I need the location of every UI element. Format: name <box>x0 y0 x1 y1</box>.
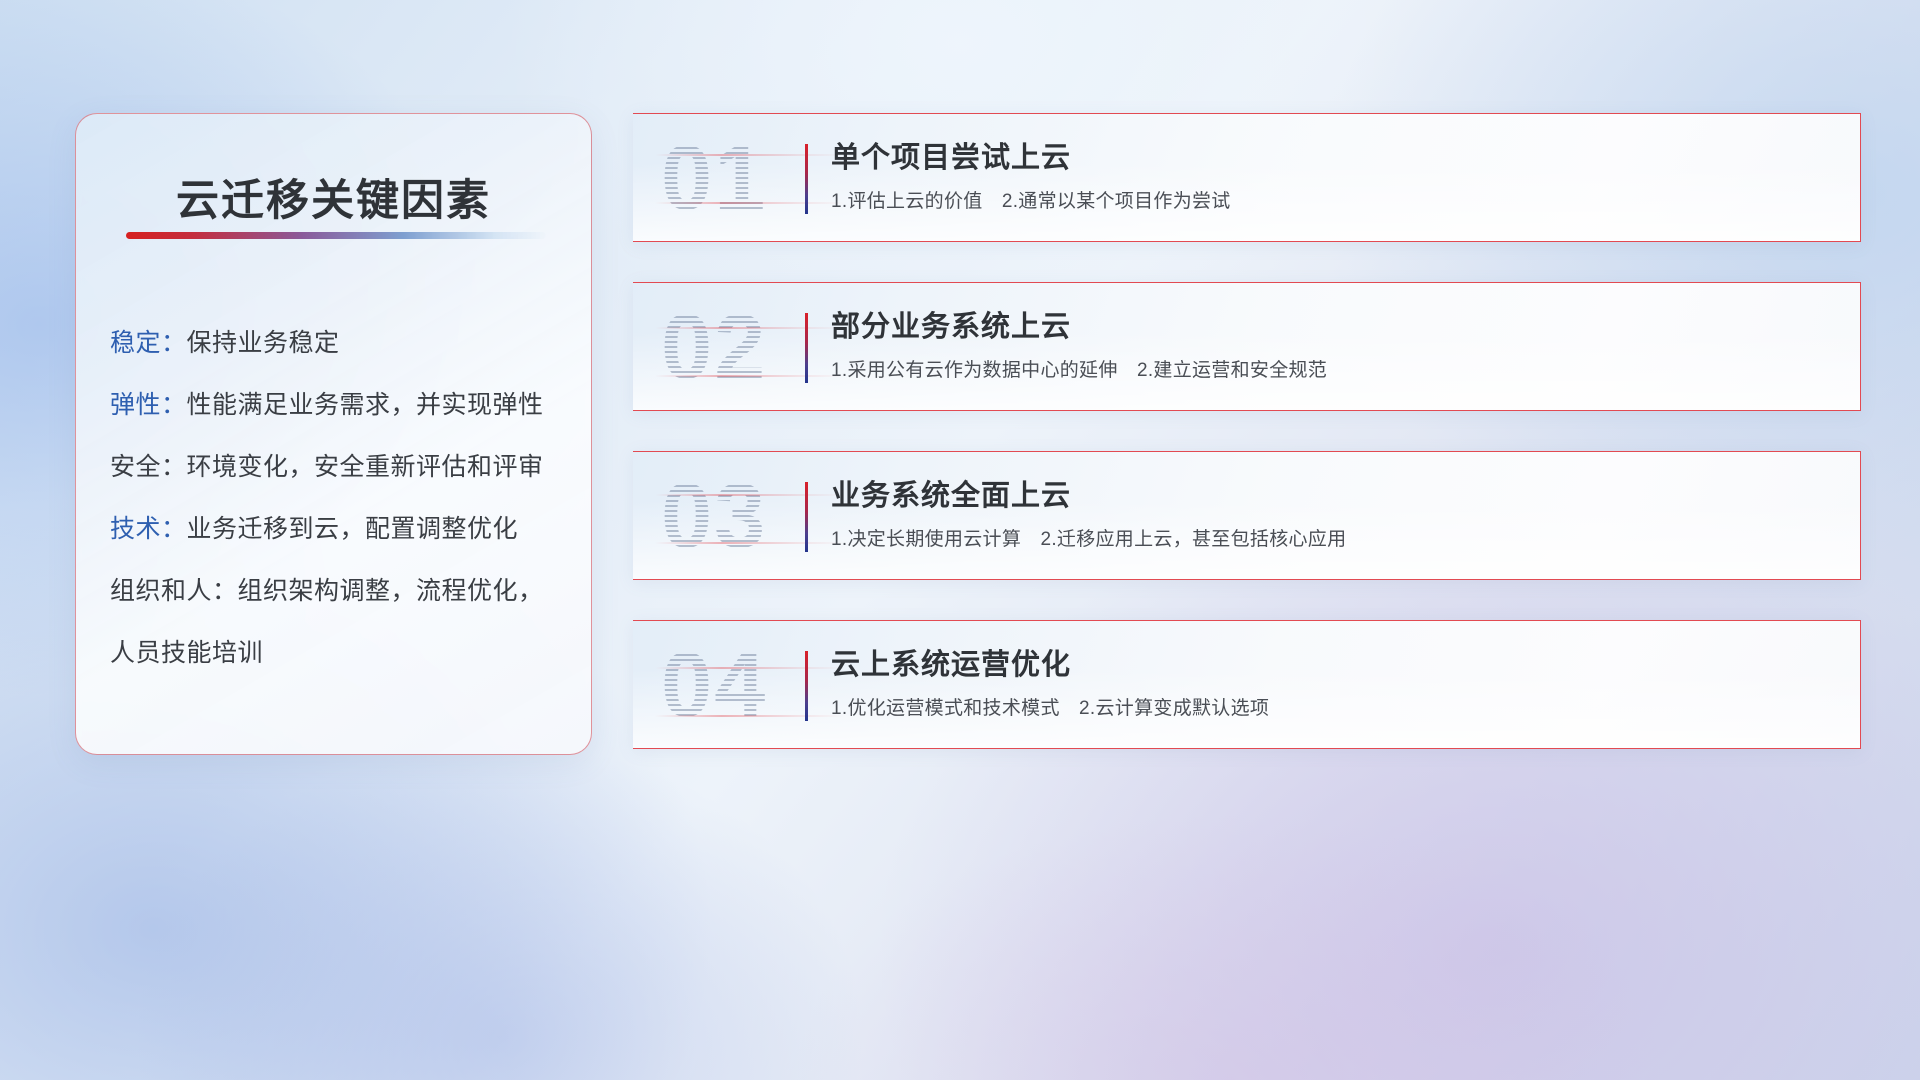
scanline-streak-icon <box>655 202 845 204</box>
stage-number-02-icon: 02 <box>661 301 767 393</box>
card-accent-bar <box>805 313 808 383</box>
factor-label: 弹性： <box>110 391 187 419</box>
factor-item-stability: 稳定：保持业务稳定 <box>110 312 571 374</box>
stage-card[interactable]: 03 业务系统全面上云 1.决定长期使用云计算 2.迁移应用上云，甚至包括核心应… <box>633 451 1861 580</box>
scanline-streak-icon <box>655 494 845 496</box>
factor-item-elasticity: 弹性：性能满足业务需求，并实现弹性 <box>110 374 571 436</box>
stage-number-01-icon: 01 <box>661 132 767 224</box>
factor-label: 技术： <box>110 515 187 543</box>
factor-label: 组织和人： <box>110 577 238 605</box>
factor-list: 稳定：保持业务稳定 弹性：性能满足业务需求，并实现弹性 安全：环境变化，安全重新… <box>110 312 571 684</box>
scanline-streak-icon <box>655 715 845 717</box>
page-title: 云迁移关键因素 <box>76 166 591 228</box>
stage-card-body: 部分业务系统上云 1.采用公有云作为数据中心的延伸 2.建立运营和安全规范 <box>831 307 1838 385</box>
factor-item-security: 安全：环境变化，安全重新评估和评审 <box>110 436 571 498</box>
stage-card-description: 1.评估上云的价值 2.通常以某个项目作为尝试 <box>831 188 1838 216</box>
factor-item-technology: 技术：业务迁移到云，配置调整优化 <box>110 498 571 560</box>
slide-canvas: 云迁移关键因素 稳定：保持业务稳定 弹性：性能满足业务需求，并实现弹性 安全：环… <box>0 0 1920 1080</box>
stage-card-description: 1.采用公有云作为数据中心的延伸 2.建立运营和安全规范 <box>831 357 1838 385</box>
scanline-streak-icon <box>655 542 845 544</box>
stage-card-body: 单个项目尝试上云 1.评估上云的价值 2.通常以某个项目作为尝试 <box>831 138 1838 216</box>
title-underline-rule <box>126 232 546 239</box>
stage-card-body: 业务系统全面上云 1.决定长期使用云计算 2.迁移应用上云，甚至包括核心应用 <box>831 476 1838 554</box>
stage-card-title: 云上系统运营优化 <box>831 645 1838 685</box>
factor-label: 稳定： <box>110 329 187 357</box>
factor-text: 环境变化，安全重新评估和评审 <box>187 453 544 481</box>
factor-text: 组织架构调整，流程优化， <box>238 577 544 605</box>
stage-card-title: 业务系统全面上云 <box>831 476 1838 516</box>
factor-text: 业务迁移到云，配置调整优化 <box>187 515 519 543</box>
factor-item-organization-cont: 人员技能培训 <box>110 622 571 684</box>
factor-label: 安全： <box>110 453 187 481</box>
card-accent-bar <box>805 144 808 214</box>
card-accent-bar <box>805 482 808 552</box>
factor-text: 人员技能培训 <box>110 639 263 667</box>
stage-card-title: 单个项目尝试上云 <box>831 138 1838 178</box>
stage-card[interactable]: 04 云上系统运营优化 1.优化运营模式和技术模式 2.云计算变成默认选项 <box>633 620 1861 749</box>
stage-card-description: 1.优化运营模式和技术模式 2.云计算变成默认选项 <box>831 695 1838 723</box>
stage-number-03-icon: 03 <box>661 470 767 562</box>
stage-card-title: 部分业务系统上云 <box>831 307 1838 347</box>
stage-number-04-icon: 04 <box>661 639 767 731</box>
stage-card-list: 01 单个项目尝试上云 1.评估上云的价值 2.通常以某个项目作为尝试 02 部… <box>633 113 1861 789</box>
factor-item-organization: 组织和人：组织架构调整，流程优化， <box>110 560 571 622</box>
scanline-streak-icon <box>655 327 845 329</box>
card-accent-bar <box>805 651 808 721</box>
scanline-streak-icon <box>655 667 845 669</box>
scanline-streak-icon <box>655 375 845 377</box>
factor-text: 保持业务稳定 <box>187 329 340 357</box>
factor-text: 性能满足业务需求，并实现弹性 <box>187 391 544 419</box>
key-factors-panel: 云迁移关键因素 稳定：保持业务稳定 弹性：性能满足业务需求，并实现弹性 安全：环… <box>75 113 592 755</box>
stage-card[interactable]: 02 部分业务系统上云 1.采用公有云作为数据中心的延伸 2.建立运营和安全规范 <box>633 282 1861 411</box>
scanline-streak-icon <box>655 154 845 156</box>
stage-card-description: 1.决定长期使用云计算 2.迁移应用上云，甚至包括核心应用 <box>831 526 1838 554</box>
stage-card-body: 云上系统运营优化 1.优化运营模式和技术模式 2.云计算变成默认选项 <box>831 645 1838 723</box>
stage-card[interactable]: 01 单个项目尝试上云 1.评估上云的价值 2.通常以某个项目作为尝试 <box>633 113 1861 242</box>
